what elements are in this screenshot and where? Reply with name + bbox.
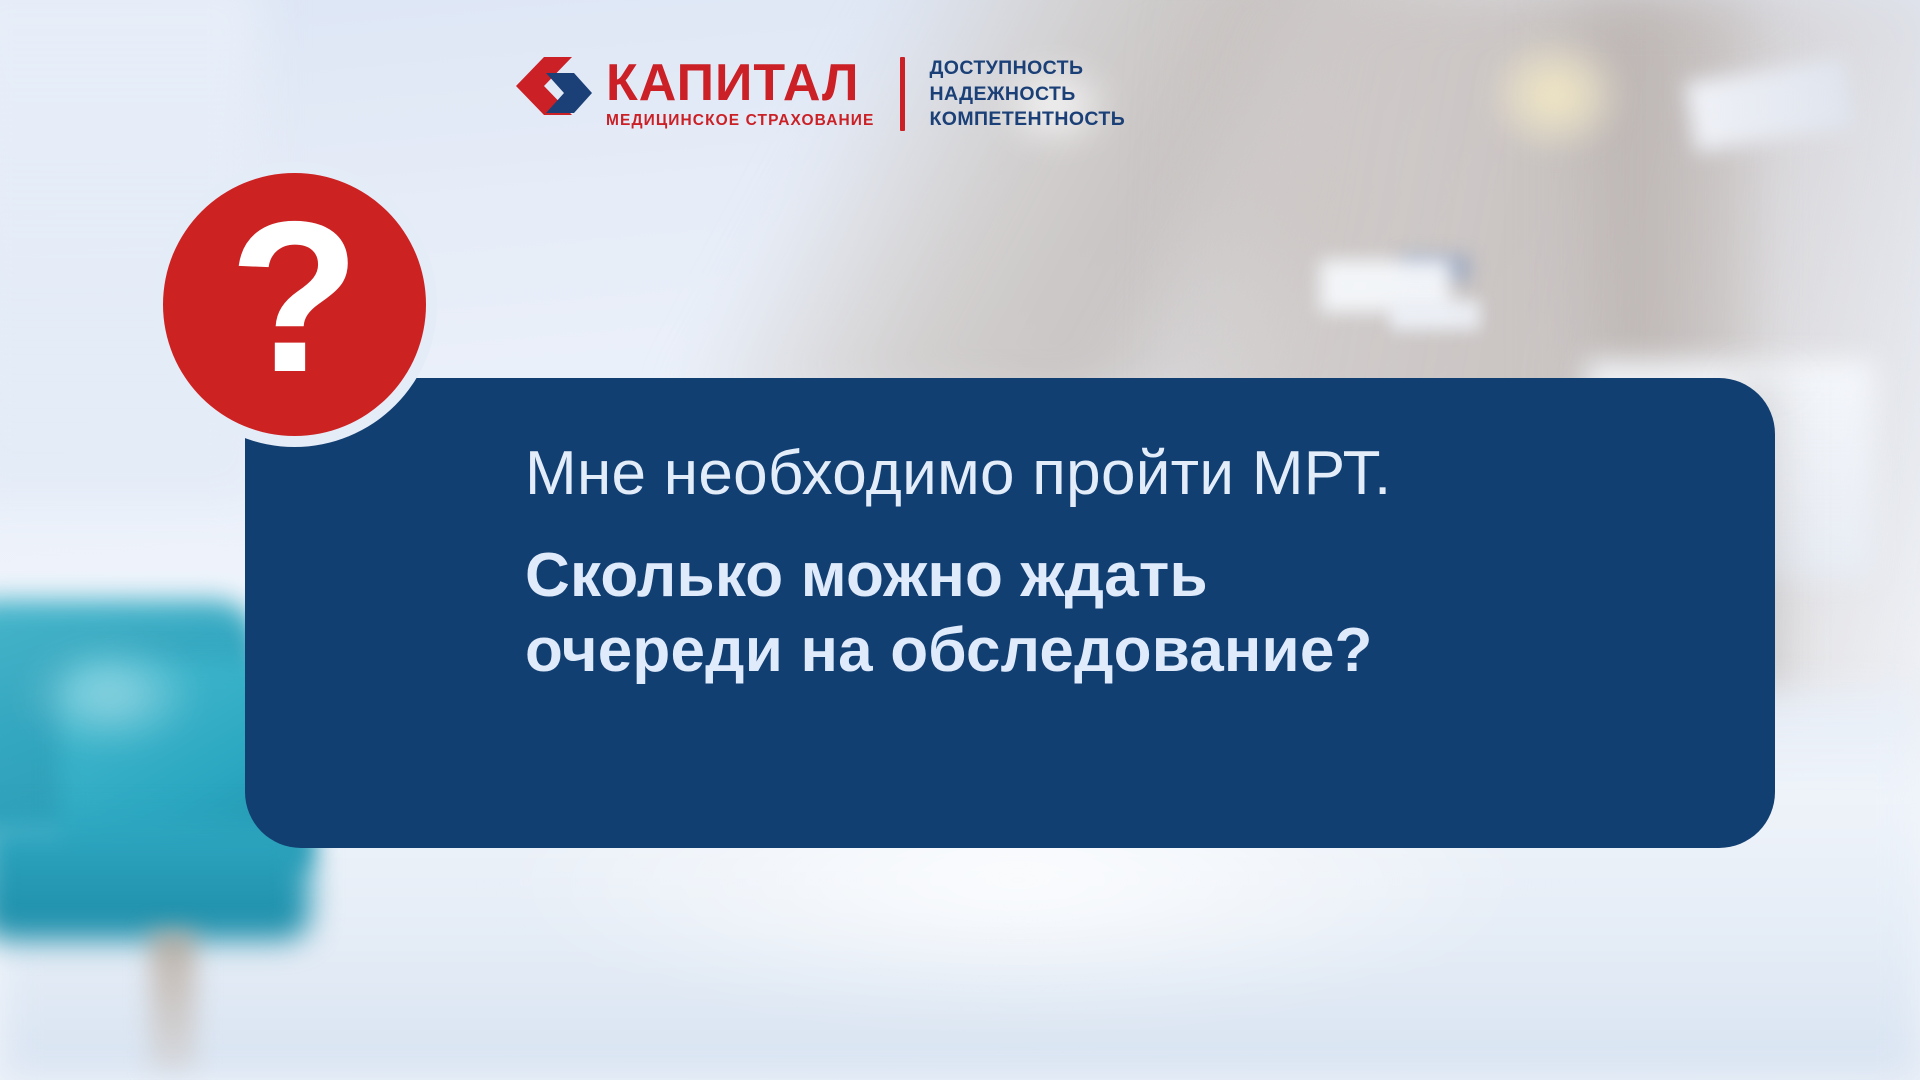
- question-mark-badge: ?: [152, 162, 437, 447]
- brand-subtitle: МЕДИЦИНСКОЕ СТРАХОВАНИЕ: [606, 112, 874, 130]
- question-line-bold-2: очереди на обследование?: [525, 613, 1705, 689]
- brand-name: КАПИТАЛ: [606, 58, 874, 108]
- brand-slogan: ДОСТУПНОСТЬ НАДЕЖНОСТЬ КОМПЕТЕНТНОСТЬ: [929, 56, 1125, 133]
- question-line-bold-1: Сколько можно ждать: [525, 538, 1705, 614]
- slogan-line-2: НАДЕЖНОСТЬ: [929, 82, 1125, 107]
- question-card-text: Мне необходимо пройти МРТ. Сколько можно…: [525, 436, 1705, 689]
- slogan-line-3: КОМПЕТЕНТНОСТЬ: [929, 107, 1125, 132]
- background-lamp-right: [1490, 40, 1620, 150]
- question-mark-icon: ?: [152, 162, 437, 447]
- background-chair-highlight: [20, 640, 200, 750]
- brand-logo: КАПИТАЛ МЕДИЦИНСКОЕ СТРАХОВАНИЕ ДОСТУПНО…: [500, 55, 1125, 133]
- background-chair-leg: [150, 930, 196, 1070]
- question-line-regular: Мне необходимо пройти МРТ.: [525, 436, 1705, 512]
- brand-wordmark: КАПИТАЛ МЕДИЦИНСКОЕ СТРАХОВАНИЕ: [606, 58, 874, 130]
- chevron-double-logo-icon: [500, 55, 592, 133]
- question-card: Мне необходимо пройти МРТ. Сколько можно…: [245, 378, 1775, 848]
- background-chair-seat: [0, 820, 310, 940]
- logo-divider: [900, 57, 905, 131]
- slide-canvas: КАПИТАЛ МЕДИЦИНСКОЕ СТРАХОВАНИЕ ДОСТУПНО…: [0, 0, 1920, 1080]
- background-sign-small: [1390, 300, 1480, 330]
- slogan-line-1: ДОСТУПНОСТЬ: [929, 56, 1125, 81]
